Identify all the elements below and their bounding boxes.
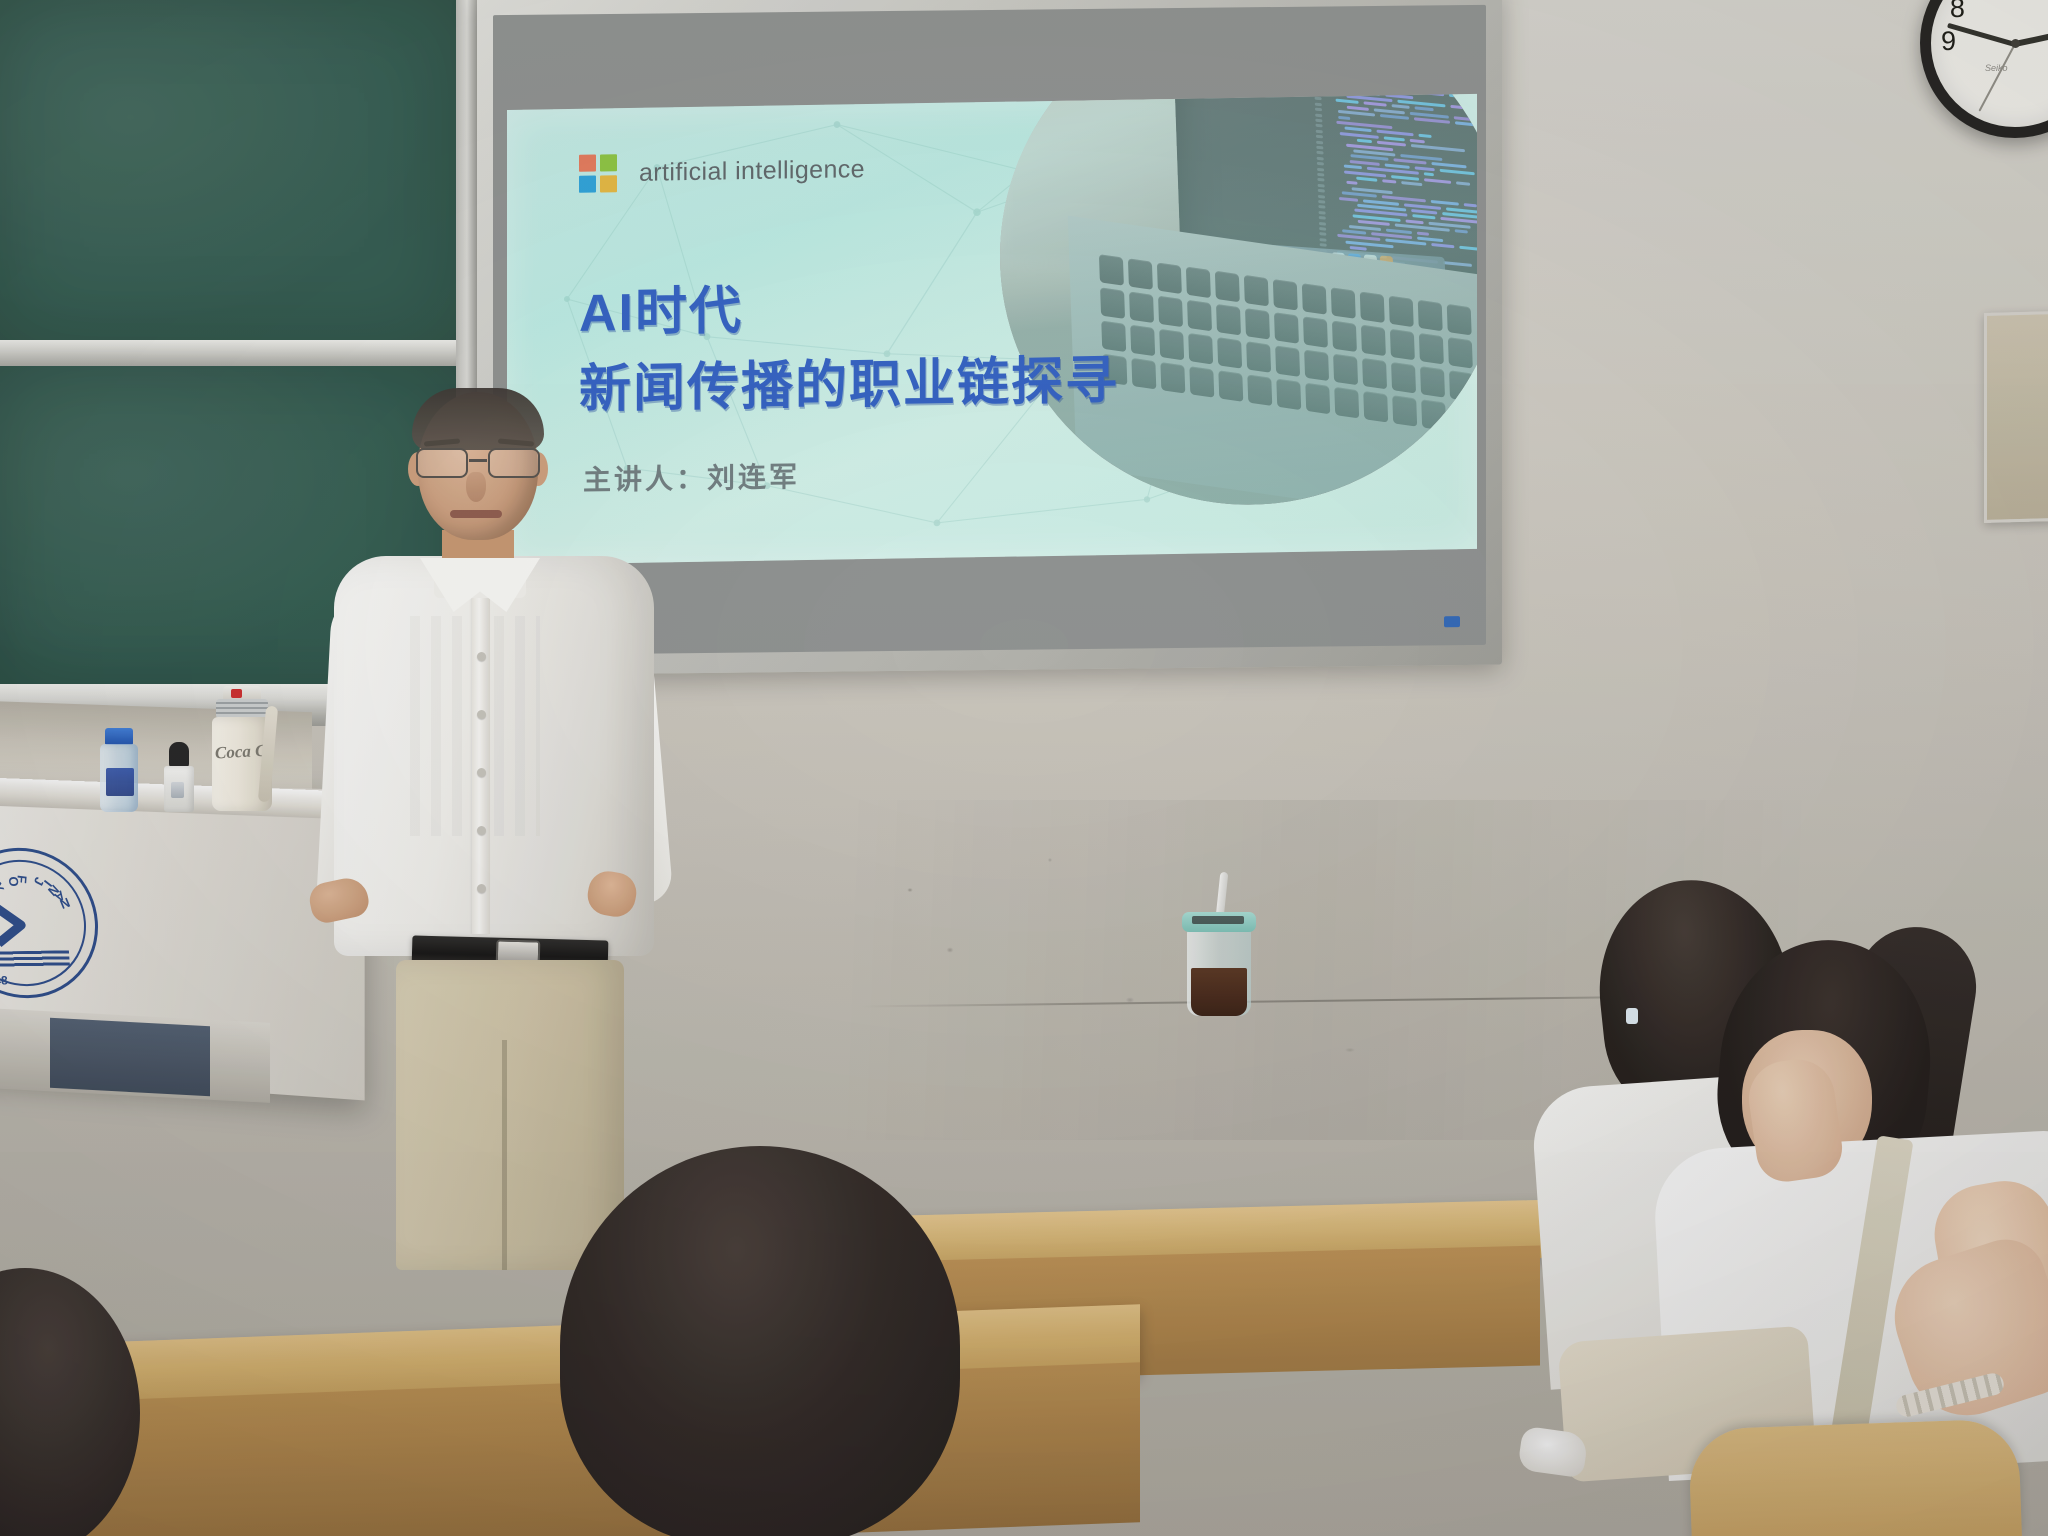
university-seal-lines <box>0 950 70 968</box>
student-chair-right <box>1688 1418 2022 1536</box>
cup-lid-label <box>1192 916 1244 924</box>
glasses-bridge <box>469 459 487 462</box>
thermos-button <box>231 689 242 698</box>
student-center-head <box>560 1146 960 1536</box>
shirt-button <box>477 652 486 661</box>
presenter-trouser-seam <box>502 1040 507 1270</box>
cup-liquid <box>1191 968 1247 1016</box>
logo-square-top-right <box>600 154 617 171</box>
presenter-trousers <box>396 960 624 1270</box>
lectern-lower-panel <box>50 1018 210 1096</box>
blackboard-upper-panel <box>0 0 458 346</box>
student-right-back-earring <box>1626 1008 1638 1024</box>
presenter-person <box>300 380 700 1100</box>
wireless-microphone[interactable] <box>162 742 196 812</box>
mic-foam-windscreen <box>169 742 189 768</box>
slide-hero-photo <box>1000 94 1477 509</box>
logo-square-bottom-right <box>600 175 617 192</box>
presenter-shirt-placket <box>472 594 490 934</box>
university-seal-chevron-icon <box>0 903 49 948</box>
presenter-mouth <box>450 510 502 518</box>
clock-number-9: 9 <box>1941 26 1956 57</box>
bottle-cap <box>105 728 133 745</box>
projector-sensor-indicator <box>1444 616 1460 627</box>
water-bottle[interactable] <box>96 728 142 812</box>
clock-second-hand <box>1978 44 2015 112</box>
microsoft-squares-logo <box>579 154 617 193</box>
logo-square-top-left <box>579 155 596 172</box>
slide-title-line-1: AI时代 <box>579 268 743 346</box>
blackboard-middle-rail <box>0 340 466 366</box>
mic-display-screen <box>171 782 184 798</box>
logo-square-bottom-left <box>579 176 596 193</box>
coca-cola-thermos[interactable]: Coca Cola <box>206 686 276 814</box>
university-seal-year: 1948 <box>0 973 8 987</box>
glasses-left-lens <box>416 448 468 478</box>
slide-brand-label: artificial intelligence <box>639 155 865 188</box>
clock-minute-hand <box>1947 23 2016 47</box>
classroom-scene: artificial intelligence AI时代 新闻传播的职业链探寻 … <box>0 0 2048 1536</box>
clock-center-pin <box>2011 39 2020 48</box>
glasses-right-lens <box>488 448 540 478</box>
shirt-button <box>477 884 486 893</box>
bottle-label <box>106 768 134 796</box>
shirt-button <box>477 710 486 719</box>
clock-number-8: 8 <box>1950 0 1965 24</box>
presenter-nose <box>466 472 486 502</box>
seal-letter: N <box>56 895 72 913</box>
slide-brand-row: artificial intelligence <box>579 150 865 193</box>
thermos-lid <box>223 686 261 700</box>
shirt-button <box>477 768 486 777</box>
seal-letter: F <box>14 874 30 886</box>
wall-notice-board <box>1984 311 2048 523</box>
thermos-collar-ring <box>216 699 268 719</box>
iced-coffee-cup[interactable] <box>1182 906 1256 1020</box>
shirt-button <box>477 826 486 835</box>
photo-teal-tint <box>1000 94 1477 509</box>
